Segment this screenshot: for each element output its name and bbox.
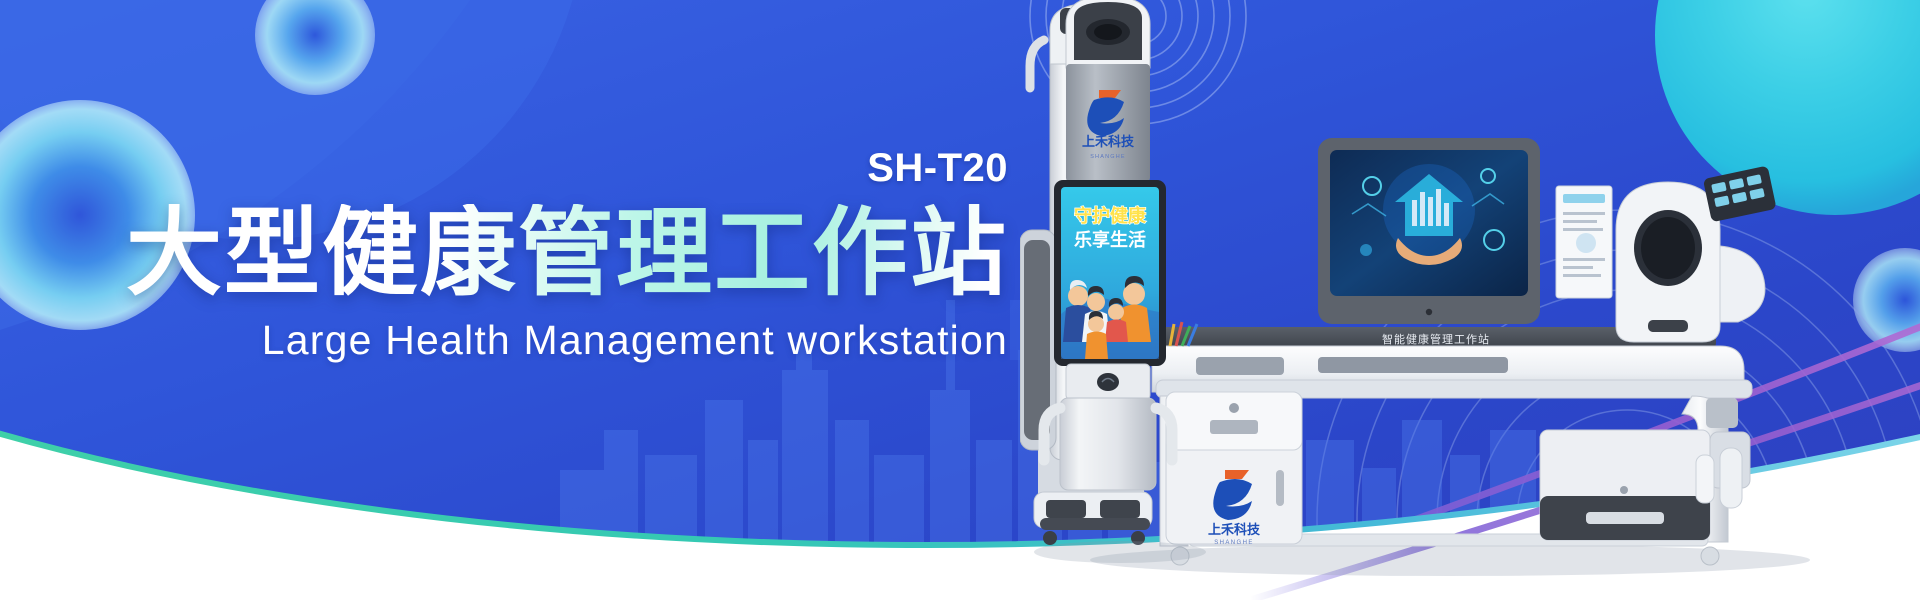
kiosk-ad-line2: 乐享生活: [1074, 229, 1146, 251]
kiosk-brand-en: SHANGHE: [1090, 154, 1126, 160]
hero-text-block: SH-T20 大型健康管理工作站 Large Health Management…: [0, 148, 1030, 364]
kiosk-ad-line1: 守护健康: [1074, 205, 1147, 227]
kiosk-brand-cn: 上禾科技: [1082, 134, 1135, 150]
cabinet-brand-en: SHANGHE: [1214, 540, 1253, 546]
brochure: [1556, 186, 1612, 298]
blood-pressure-monitor: [1616, 166, 1777, 342]
desk-monitor: 智能健康管理工作站: [1318, 138, 1540, 346]
product-hero-banner: SH-T20 大型健康管理工作站 Large Health Management…: [0, 0, 1920, 600]
workstation-desk: 上禾科技 SHANGHE: [1152, 138, 1777, 565]
cabinet-brand-cn: 上禾科技: [1208, 522, 1261, 538]
kiosk-totem: 上禾科技 SHANGHE 守护健康 乐享生活: [1030, 0, 1200, 494]
page-title: 大型健康管理工作站: [0, 204, 1008, 305]
under-desk-printer: [1540, 430, 1710, 540]
kiosk-ad-screen: 守护健康 乐享生活: [1054, 180, 1166, 366]
model-label: SH-T20: [0, 148, 1008, 188]
health-kiosk-tower: [1034, 541, 1206, 563]
page-subtitle: Large Health Management workstation: [0, 317, 1008, 364]
monitor-caption: 智能健康管理工作站: [1382, 332, 1490, 346]
